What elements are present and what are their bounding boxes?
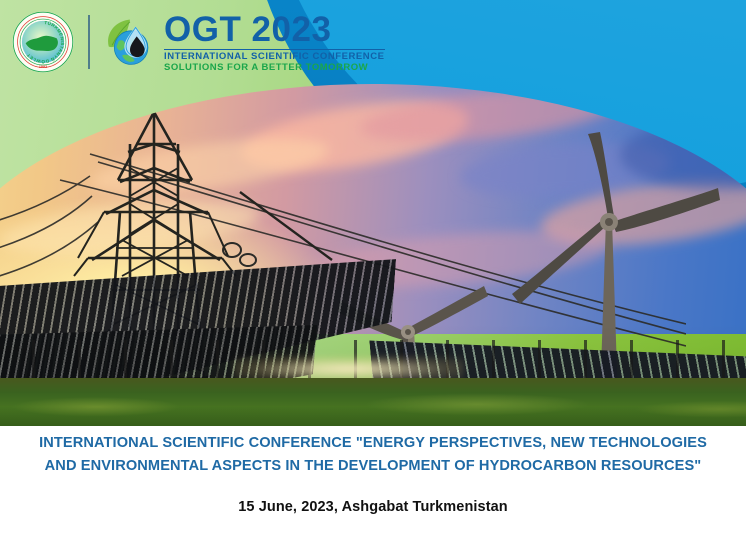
- turkmenistan-state-emblem: TÜRKMENISTANYŇ DÖWLET 1992: [12, 11, 74, 73]
- ogt-subtitle-primary: INTERNATIONAL SCIENTIFIC CONFERENCE: [164, 52, 385, 62]
- ogt-title-rule: [164, 49, 385, 50]
- conference-poster: TÜRKMENISTANYŇ DÖWLET 1992: [0, 0, 746, 535]
- arched-photo-frame: [0, 84, 746, 426]
- ogt-title: OGT 2023: [164, 12, 385, 47]
- ogt-logo-text: OGT 2023 INTERNATIONAL SCIENTIFIC CONFER…: [164, 12, 385, 73]
- conference-date-location: 15 June, 2023, Ashgabat Turkmenistan: [0, 499, 746, 515]
- conference-title-line-2: AND ENVIRONMENTAL ASPECTS IN THE DEVELOP…: [0, 455, 746, 478]
- energy-landscape-photo: [0, 84, 746, 426]
- conference-title-line-1: INTERNATIONAL SCIENTIFIC CONFERENCE "ENE…: [0, 432, 746, 455]
- photo-shade-overlay: [0, 84, 746, 426]
- ogt-leaf-globe-droplet-icon: [102, 14, 158, 70]
- logo-divider: [88, 15, 90, 69]
- conference-caption: INTERNATIONAL SCIENTIFIC CONFERENCE "ENE…: [0, 432, 746, 515]
- ogt-subtitle-tagline: SOLUTIONS FOR A BETTER TOMORROW: [164, 63, 385, 73]
- svg-text:1992: 1992: [39, 65, 47, 69]
- logo-bar: TÜRKMENISTANYŇ DÖWLET 1992: [0, 0, 385, 84]
- ogt-logo: OGT 2023 INTERNATIONAL SCIENTIFIC CONFER…: [102, 12, 385, 73]
